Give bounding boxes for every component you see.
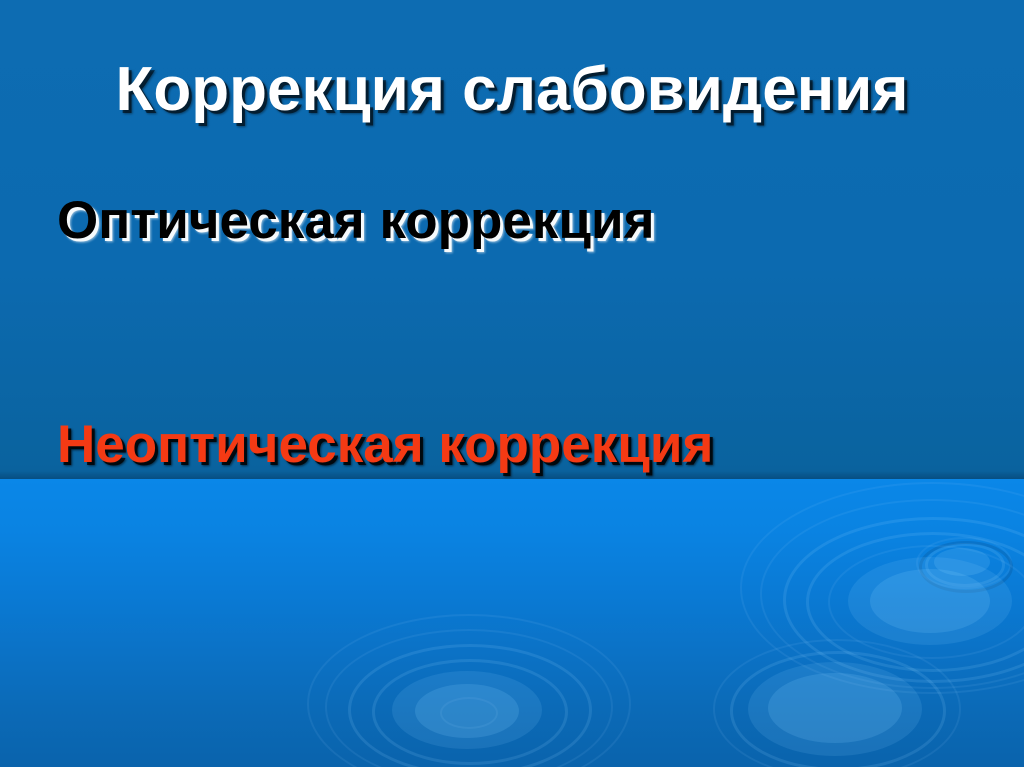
presentation-slide: Коррекция слабовидения Оптическая коррек… — [0, 0, 1024, 767]
slide-title: Коррекция слабовидения — [0, 57, 1024, 122]
bullet-nonoptical-correction: Неоптическая коррекция — [57, 417, 713, 473]
slide-background-lower — [0, 479, 1024, 767]
bullet-optical-correction: Оптическая коррекция — [57, 193, 655, 249]
